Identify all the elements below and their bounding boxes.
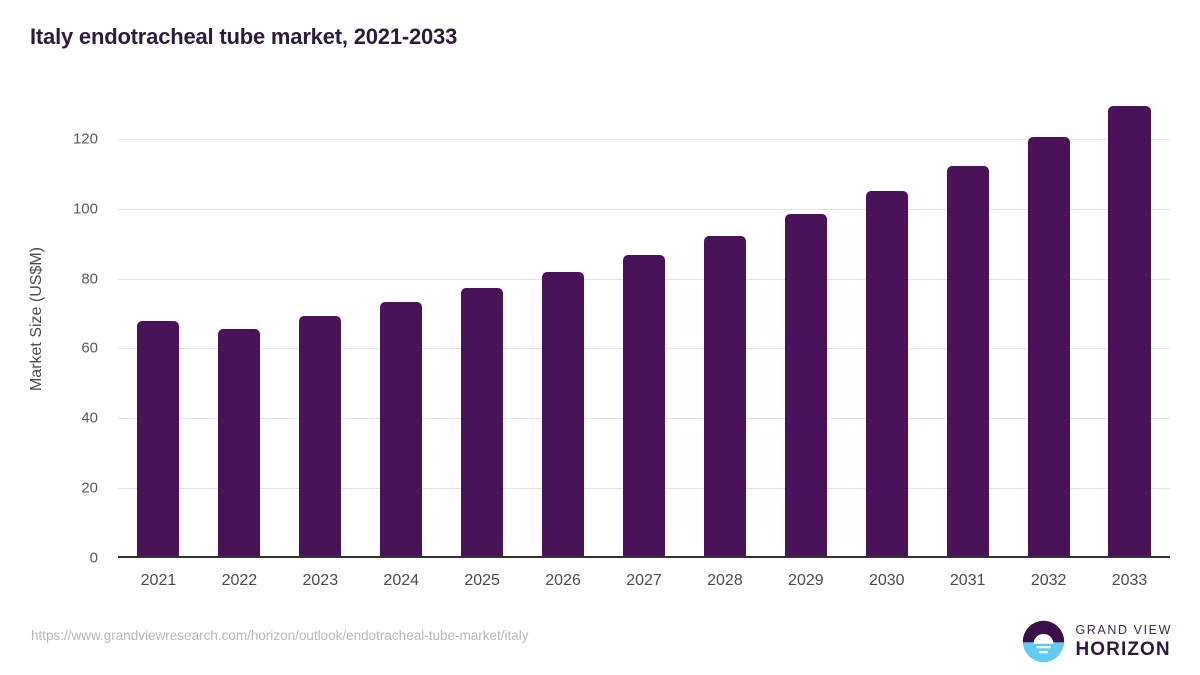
bar[interactable]	[218, 329, 260, 558]
bar[interactable]	[623, 255, 665, 558]
x-axis-tick-label: 2027	[626, 572, 662, 590]
x-axis-tick-label: 2032	[1031, 572, 1067, 590]
bar[interactable]	[1108, 106, 1150, 558]
plot-area: 020406080100120 202120222023202420252026…	[118, 90, 1170, 558]
bar[interactable]	[461, 288, 503, 558]
x-axis-tick-label: 2025	[464, 572, 500, 590]
gridline	[118, 209, 1170, 210]
logo-line-horizon: HORIZON	[1075, 640, 1172, 659]
chart-page: Italy endotracheal tube market, 2021-203…	[0, 0, 1200, 675]
x-axis-line	[118, 556, 1170, 558]
y-axis-tick-label: 120	[38, 130, 98, 147]
bar[interactable]	[785, 214, 827, 558]
x-axis-tick-label: 2023	[303, 572, 339, 590]
horizon-sun-circle-icon	[1021, 619, 1066, 664]
bar[interactable]	[137, 321, 179, 558]
y-axis-tick-label: 60	[38, 340, 98, 357]
x-axis-tick-label: 2029	[788, 572, 824, 590]
y-axis-tick-label: 40	[38, 410, 98, 427]
x-axis-tick-label: 2033	[1112, 572, 1148, 590]
bar[interactable]	[380, 302, 422, 558]
bar[interactable]	[866, 191, 908, 558]
grand-view-horizon-logo[interactable]: GRAND VIEW HORIZON	[1021, 619, 1172, 664]
logo-line-grand-view: GRAND VIEW	[1075, 624, 1172, 637]
bar[interactable]	[704, 236, 746, 558]
logo-text: GRAND VIEW HORIZON	[1075, 624, 1172, 659]
x-axis-tick-label: 2030	[869, 572, 905, 590]
y-axis-tick-label: 100	[38, 200, 98, 217]
chart-container: Market Size (US$M) 020406080100120 20212…	[0, 0, 1200, 620]
x-axis-tick-label: 2026	[545, 572, 581, 590]
x-axis-tick-label: 2022	[222, 572, 258, 590]
x-axis-tick-label: 2024	[383, 572, 419, 590]
y-axis-tick-label: 0	[38, 550, 98, 567]
y-axis-title: Market Size (US$M)	[28, 119, 46, 519]
x-axis-tick-label: 2028	[707, 572, 743, 590]
bar[interactable]	[1028, 137, 1070, 558]
x-axis-tick-label: 2031	[950, 572, 986, 590]
y-axis-tick-label: 80	[38, 270, 98, 287]
bar[interactable]	[542, 272, 584, 558]
bar[interactable]	[299, 316, 341, 558]
source-url[interactable]: https://www.grandviewresearch.com/horizo…	[31, 628, 529, 643]
gridline	[118, 139, 1170, 140]
y-axis-tick-label: 20	[38, 480, 98, 497]
x-axis-tick-label: 2021	[141, 572, 177, 590]
bar[interactable]	[947, 166, 989, 558]
